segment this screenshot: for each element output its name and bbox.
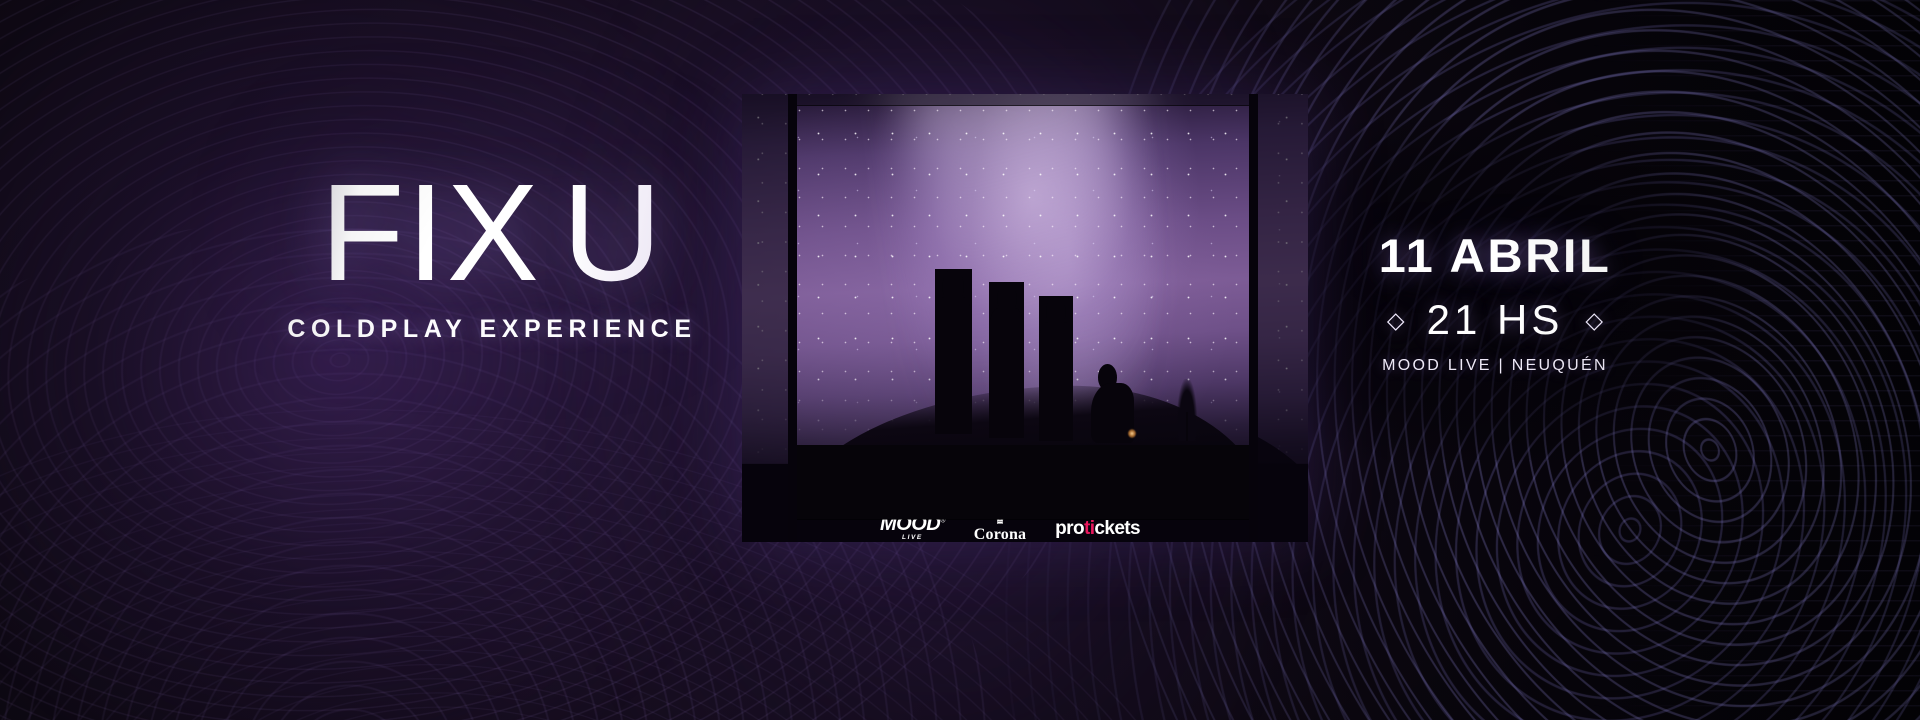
diamond-icon-right: ◇ [1585, 309, 1603, 332]
figure-silhouette-crouching [1091, 364, 1134, 442]
figure-leg-left [938, 381, 951, 434]
event-time-row: ◇ 21 HS ◇ [1330, 296, 1660, 344]
wordmark-separator-dot: · [541, 204, 562, 265]
wordmark-text-u: U [562, 156, 664, 310]
event-time: 21 HS [1427, 296, 1564, 344]
protickets-text-after: ckets [1094, 519, 1140, 538]
figure-leg-left [992, 387, 1005, 439]
event-artwork [742, 94, 1308, 542]
brand-wordmark: FIX·U [212, 168, 772, 299]
corona-logo-text: Corona [974, 527, 1026, 543]
figure-silhouette-2 [989, 282, 1024, 439]
artwork-inset-panel [797, 106, 1249, 519]
figure-silhouette-1 [935, 269, 972, 434]
protickets-text-before: pro [1055, 519, 1084, 538]
tree-silhouette [1177, 379, 1197, 441]
figure-body [935, 297, 972, 390]
brand-subtitle: COLDPLAY EXPERIENCE [212, 315, 772, 344]
figure-body [989, 308, 1024, 394]
artwork-frame-divider-left [788, 94, 797, 542]
event-venue: MOOD LIVE | NEUQUÉN [1330, 357, 1660, 375]
figure-leg-right [1058, 396, 1070, 441]
figure-body [1039, 322, 1073, 402]
figure-leg-right [1009, 387, 1022, 439]
sponsor-logo-protickets[interactable]: protickets [1055, 519, 1140, 538]
figure-silhouette-3 [1039, 296, 1073, 441]
figure-leg-left [1042, 396, 1054, 441]
ground-base [797, 445, 1249, 519]
wordmark-text-fix: FIX [320, 156, 541, 310]
event-date: 11 ABRIL [1323, 228, 1666, 283]
event-banner: FIX·U COLDPLAY EXPERIENCE [0, 0, 1920, 720]
night-sky-photo [797, 106, 1249, 519]
protickets-text-accent: ti [1084, 519, 1094, 538]
mood-logo-tagline: LIVE [902, 535, 923, 542]
figure-leg-right [956, 381, 969, 434]
event-details-block: 11 ABRIL ◇ 21 HS ◇ MOOD LIVE | NEUQUÉN [1330, 228, 1660, 375]
diamond-icon-left: ◇ [1387, 309, 1405, 332]
brand-logo-block: FIX·U COLDPLAY EXPERIENCE [212, 168, 772, 344]
artwork-frame-divider-right [1249, 94, 1258, 542]
